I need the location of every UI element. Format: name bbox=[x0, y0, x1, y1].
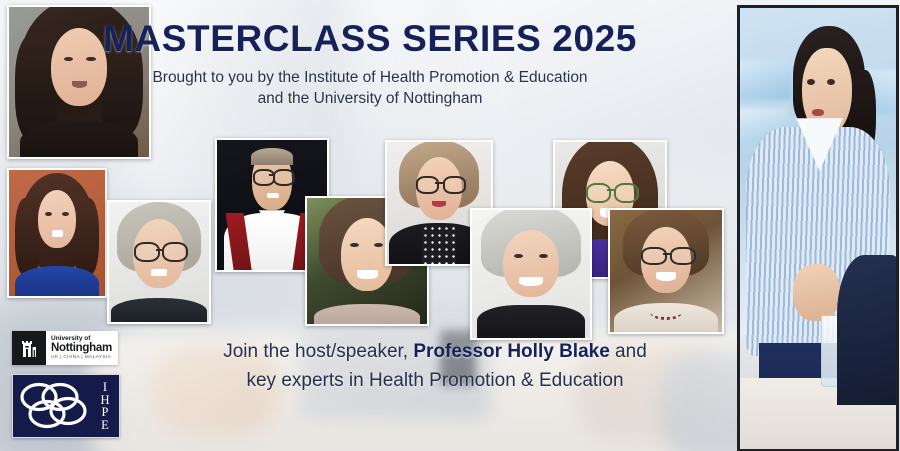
nottingham-campuses: UK | CHINA | MALAYSIA bbox=[51, 356, 114, 361]
presenter-eye-left bbox=[807, 79, 815, 85]
ihpe-letter-p: P bbox=[102, 406, 109, 419]
footer-line-two: key experts in Health Promotion & Educat… bbox=[246, 370, 623, 391]
nottingham-line-2: Nottingham bbox=[51, 343, 114, 355]
portrait-illustration bbox=[109, 202, 209, 322]
ihpe-letter-i: I bbox=[103, 381, 107, 394]
portrait-illustration bbox=[610, 210, 722, 332]
masterclass-banner: MASTERCLASS SERIES 2025 Brought to you b… bbox=[0, 0, 900, 451]
interlocking-rings-icon bbox=[17, 377, 95, 435]
portrait-illustration bbox=[472, 210, 590, 338]
photo-portrait-grey-tee bbox=[470, 208, 592, 340]
photo-portrait-warm-background bbox=[608, 208, 724, 334]
ihpe-letter-e: E bbox=[101, 419, 109, 432]
footer-lead-after: and bbox=[610, 341, 647, 362]
banner-footer-text: Join the host/speaker, Professor Holly B… bbox=[150, 338, 720, 395]
university-of-nottingham-logo: University of Nottingham UK | CHINA | MA… bbox=[12, 331, 118, 365]
footer-speaker-name: Professor Holly Blake bbox=[413, 341, 609, 362]
banner-title: MASTERCLASS SERIES 2025 bbox=[0, 18, 740, 60]
photo-portrait-left-second bbox=[7, 168, 107, 298]
footer-lead-before: Join the host/speaker, bbox=[223, 341, 413, 362]
photo-presenter-panel bbox=[737, 5, 899, 451]
seated-attendee-right bbox=[837, 255, 899, 405]
presenter-eye-right bbox=[827, 79, 835, 85]
portrait-illustration bbox=[9, 170, 105, 296]
presenter-hands bbox=[793, 264, 840, 321]
presentation-screen-1 bbox=[737, 60, 792, 100]
ihpe-lettermark: I H P E bbox=[97, 381, 113, 431]
ihpe-logo: I H P E bbox=[12, 374, 120, 438]
photo-portrait-grey-hair-glasses bbox=[107, 200, 211, 324]
castle-crest-icon bbox=[12, 331, 46, 365]
banner-subtitle: Brought to you by the Institute of Healt… bbox=[150, 68, 590, 110]
nottingham-wordmark: University of Nottingham UK | CHINA | MA… bbox=[46, 331, 118, 365]
